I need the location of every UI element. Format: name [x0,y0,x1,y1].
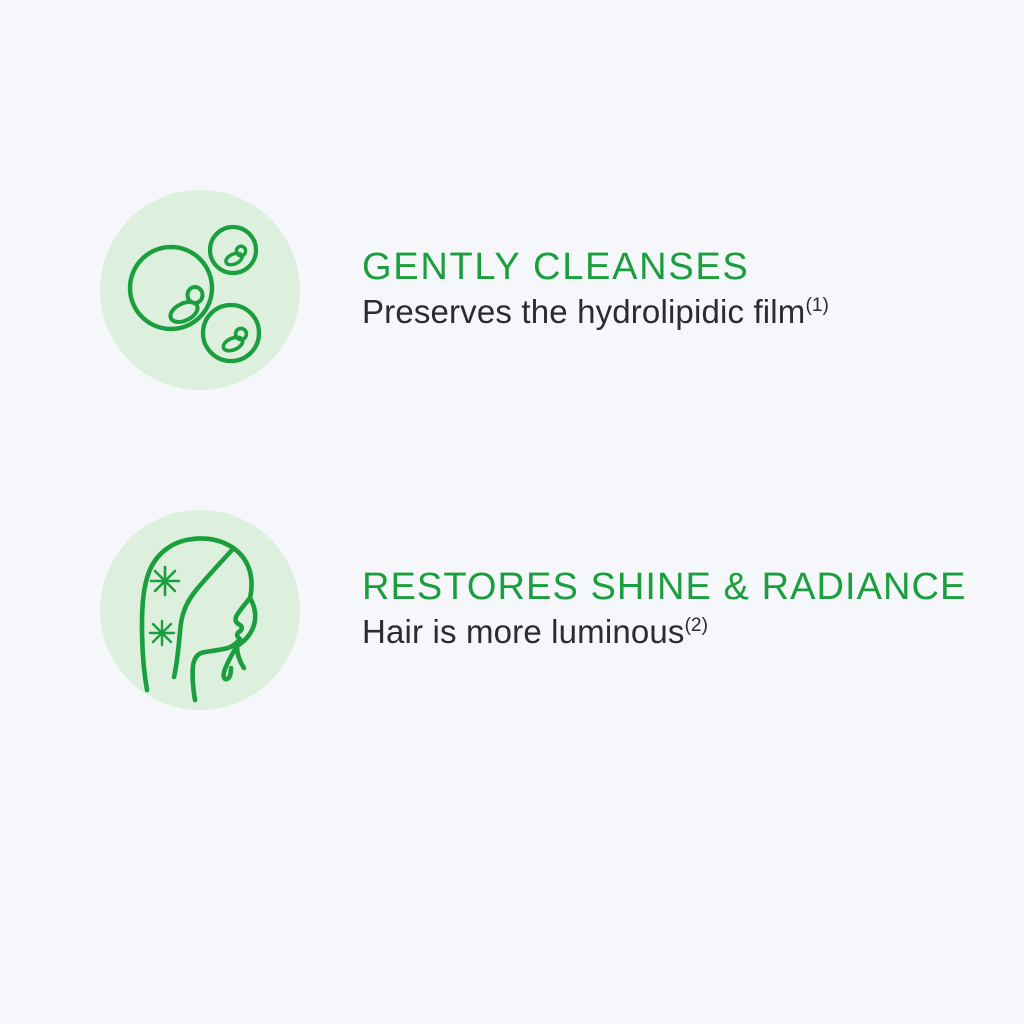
benefit-text-block: RESTORES SHINE & RADIANCE Hair is more l… [362,567,1024,652]
benefit-heading: RESTORES SHINE & RADIANCE [362,567,1024,608]
benefit-subtitle: Preserves the hydrolipidic film(1) [362,292,1024,332]
benefit-icon-badge [100,190,300,390]
woman-profile-shine-icon [100,510,300,710]
benefit-reference-marker: (1) [805,295,828,316]
benefit-item-gently-cleanses: GENTLY CLEANSES Preserves the hydrolipid… [0,190,1024,390]
benefit-icon-badge [100,510,300,710]
benefit-text-block: GENTLY CLEANSES Preserves the hydrolipid… [362,247,1024,332]
benefit-subtitle: Hair is more luminous(2) [362,612,1024,652]
benefit-subtitle-text: Preserves the hydrolipidic film [362,293,805,330]
benefit-subtitle-text: Hair is more luminous [362,613,685,650]
benefits-panel: GENTLY CLEANSES Preserves the hydrolipid… [0,0,1024,1024]
benefit-heading: GENTLY CLEANSES [362,247,1024,288]
benefit-item-restores-shine-radiance: RESTORES SHINE & RADIANCE Hair is more l… [0,510,1024,710]
benefit-reference-marker: (2) [685,615,708,636]
bubbles-icon [100,190,300,390]
